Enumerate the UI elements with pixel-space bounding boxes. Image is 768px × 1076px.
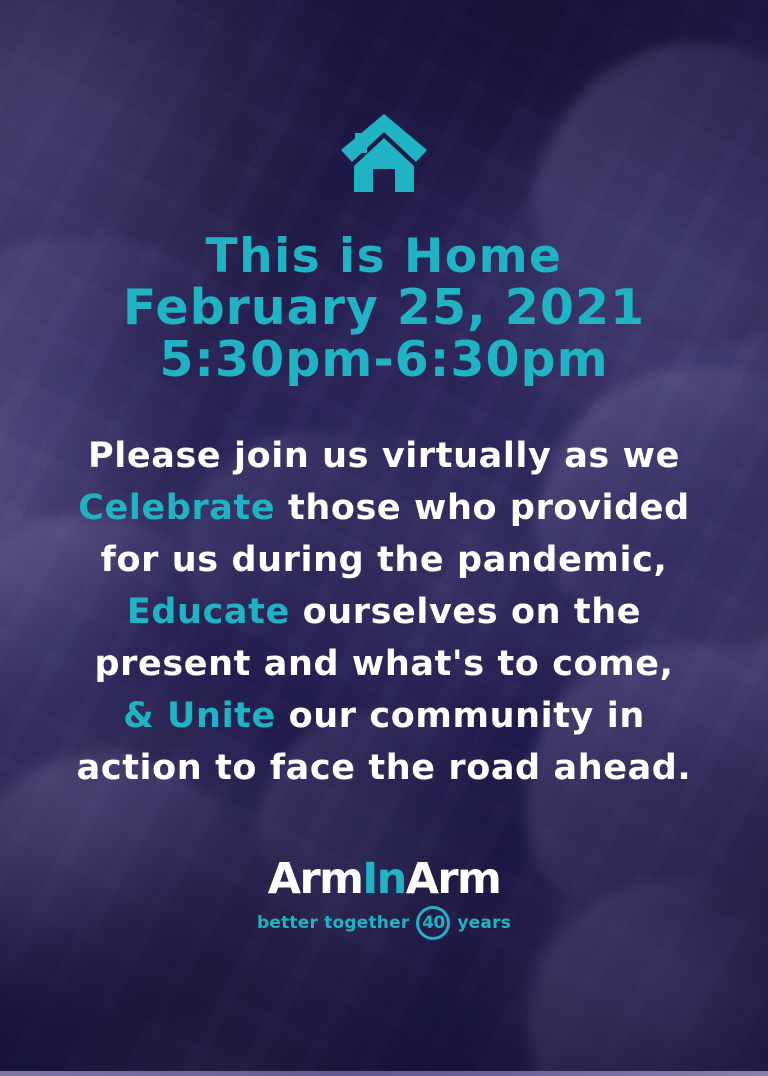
logo-word-in: In xyxy=(362,854,405,904)
body-text: Please join us virtually as we xyxy=(88,436,680,476)
body-text: action to face the road ahead. xyxy=(77,748,692,788)
body-text: those who provided xyxy=(275,488,690,528)
logo-tagline: better together 40 years xyxy=(257,906,511,940)
headline-line-title: This is Home xyxy=(0,232,768,282)
body-line-4: Educate ourselves on the xyxy=(54,586,714,638)
body-text: ourselves on the xyxy=(290,592,641,632)
logo-word-arm2: Arm xyxy=(406,854,501,904)
highlight-celebrate: Celebrate xyxy=(78,488,275,528)
arminarm-logo: ArmInArm better together 40 years xyxy=(0,858,768,940)
highlight-educate: Educate xyxy=(127,592,290,632)
event-flyer: This is Home February 25, 2021 5:30pm-6:… xyxy=(0,0,768,1076)
flyer-content: This is Home February 25, 2021 5:30pm-6:… xyxy=(0,0,768,1076)
body-line-5: present and what's to come, xyxy=(54,638,714,690)
logo-wordmark: ArmInArm xyxy=(268,858,500,901)
tagline-before: better together xyxy=(257,913,409,933)
house-icon xyxy=(0,111,768,195)
body-line-2: Celebrate those who provided xyxy=(54,482,714,534)
headline-block: This is Home February 25, 2021 5:30pm-6:… xyxy=(0,232,768,386)
body-text: present and what's to come, xyxy=(94,644,673,684)
logo-word-arm1: Arm xyxy=(268,854,363,904)
body-line-7: action to face the road ahead. xyxy=(54,742,714,794)
body-line-3: for us during the pandemic, xyxy=(54,534,714,586)
body-text: for us during the pandemic, xyxy=(101,540,668,580)
tagline-after: years xyxy=(457,913,511,933)
anniversary-badge-40: 40 xyxy=(416,906,450,940)
headline-line-time: 5:30pm-6:30pm xyxy=(0,334,768,386)
body-line-1: Please join us virtually as we xyxy=(54,430,714,482)
body-text: our community in xyxy=(276,696,645,736)
headline-line-date: February 25, 2021 xyxy=(0,282,768,334)
body-paragraph: Please join us virtually as we Celebrate… xyxy=(54,430,714,794)
highlight-unite: & Unite xyxy=(123,696,276,736)
body-line-6: & Unite our community in xyxy=(54,690,714,742)
